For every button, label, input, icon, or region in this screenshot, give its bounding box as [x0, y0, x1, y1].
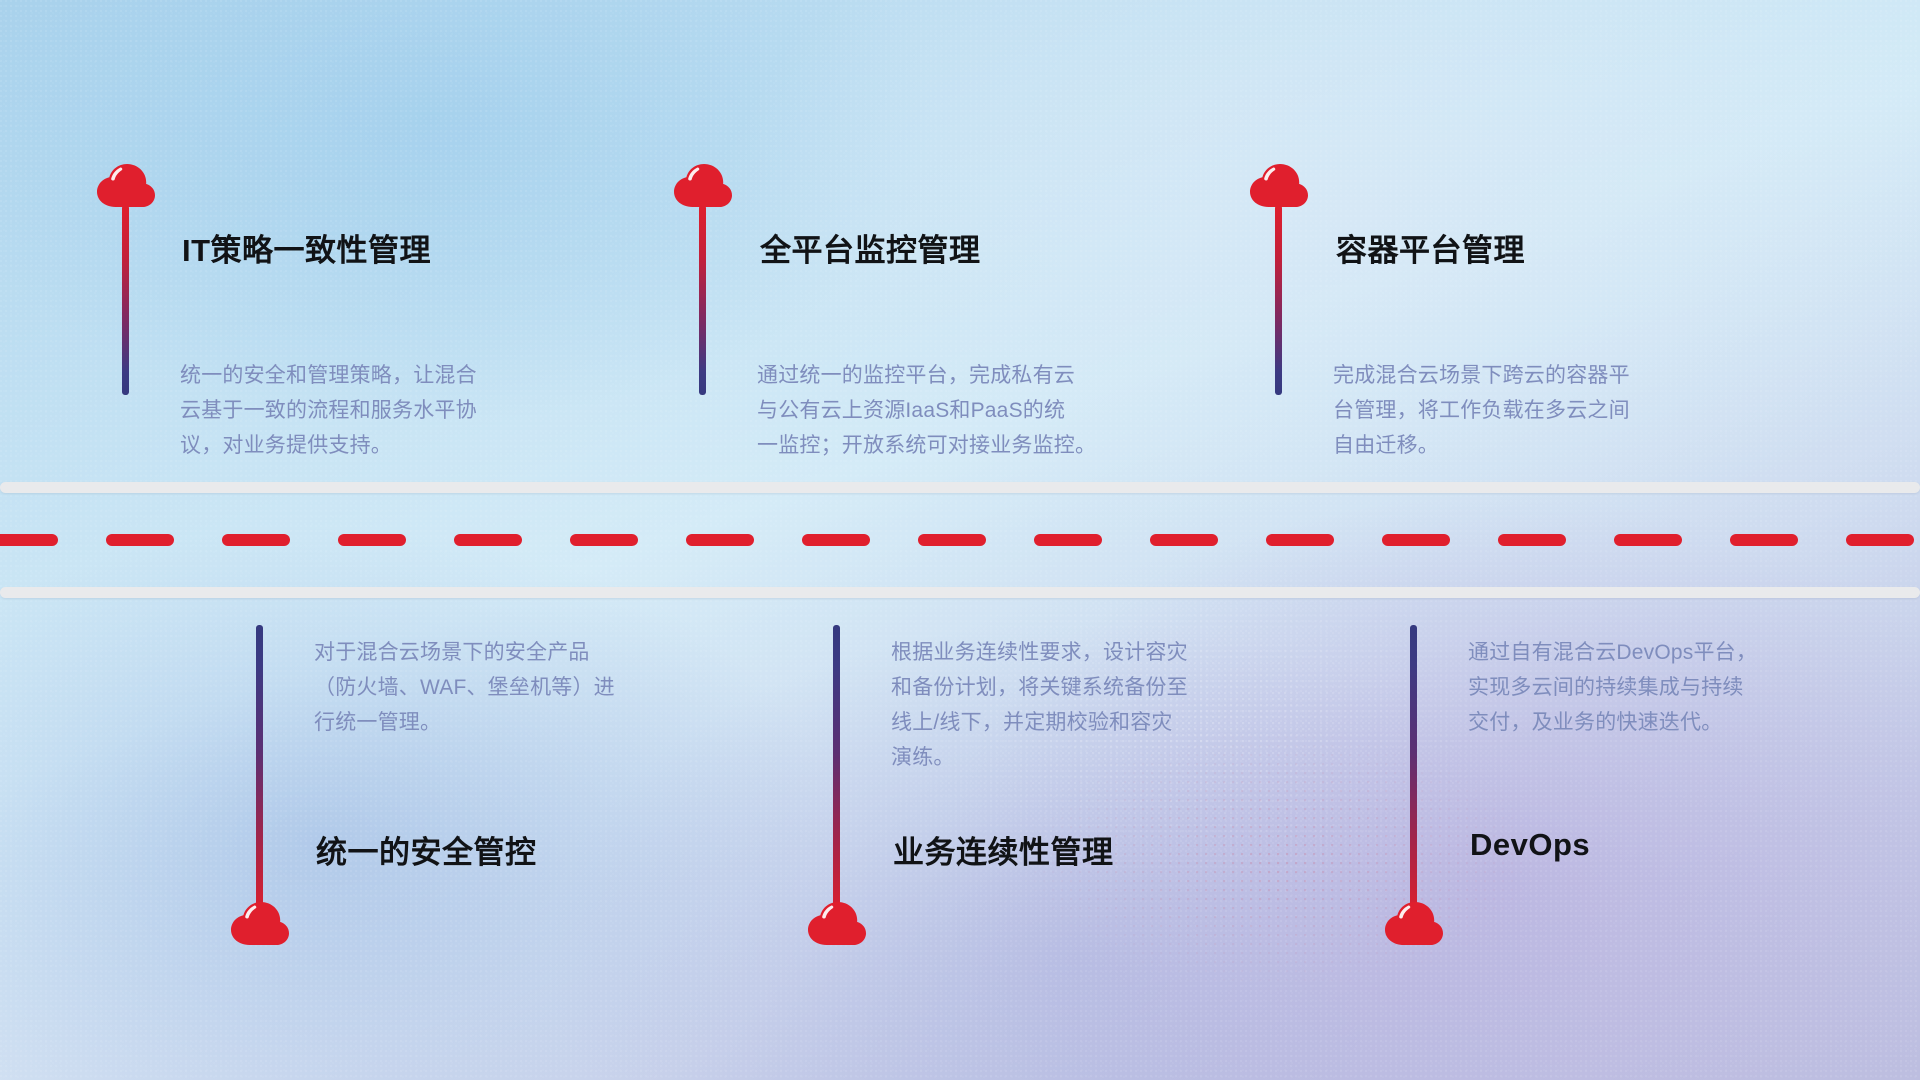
road-dash-segment	[570, 534, 638, 546]
road-dash-segment	[1614, 534, 1682, 546]
road-dash-segment	[1382, 534, 1450, 546]
road-dash-segment	[802, 534, 870, 546]
item-description: 统一的安全和管理策略，让混合 云基于一致的流程和服务水平协 议，对业务提供支持。	[180, 358, 600, 463]
connector-stem	[1410, 625, 1417, 908]
connector-stem	[833, 625, 840, 908]
cloud-icon	[672, 160, 734, 208]
item-description: 通过自有混合云DevOps平台， 实现多云间的持续集成与持续 交付，及业务的快速…	[1468, 635, 1898, 740]
cloud-icon	[1248, 160, 1310, 208]
infographic-canvas: IT策略一致性管理 统一的安全和管理策略，让混合 云基于一致的流程和服务水平协 …	[0, 0, 1920, 1080]
item-title: 业务连续性管理	[893, 827, 1114, 872]
cloud-icon	[806, 898, 868, 946]
road-divider	[0, 482, 1920, 598]
road-dash-segment	[1150, 534, 1218, 546]
road-edge-top	[0, 482, 1920, 493]
connector-stem	[256, 625, 263, 908]
item-title: IT策略一致性管理	[182, 225, 431, 270]
road-dash-segment	[106, 534, 174, 546]
cloud-icon	[95, 160, 157, 208]
item-title: 容器平台管理	[1336, 225, 1525, 270]
road-dash-segment	[1034, 534, 1102, 546]
road-dash-segment	[1730, 534, 1798, 546]
road-edge-bottom	[0, 587, 1920, 598]
road-dash-segment	[1498, 534, 1566, 546]
item-title: DevOps	[1470, 827, 1590, 863]
cloud-icon	[229, 898, 291, 946]
item-title: 统一的安全管控	[316, 827, 537, 872]
road-dash-segment	[1266, 534, 1334, 546]
road-dash-segment	[0, 534, 58, 546]
road-dash-segment	[222, 534, 290, 546]
connector-stem	[1275, 205, 1282, 395]
item-description: 通过统一的监控平台，完成私有云 与公有云上资源IaaS和PaaS的统 一监控；开…	[757, 358, 1187, 463]
road-dash-segment	[686, 534, 754, 546]
item-title: 全平台监控管理	[760, 225, 981, 270]
road-dash-segment	[1846, 534, 1914, 546]
road-center-dashes	[0, 534, 1920, 546]
cloud-icon	[1383, 898, 1445, 946]
road-dash-segment	[454, 534, 522, 546]
item-description: 完成混合云场景下跨云的容器平 台管理，将工作负载在多云之间 自由迁移。	[1333, 358, 1753, 463]
connector-stem	[699, 205, 706, 395]
road-dash-segment	[338, 534, 406, 546]
item-description: 对于混合云场景下的安全产品 （防火墙、WAF、堡垒机等）进 行统一管理。	[314, 635, 734, 740]
connector-stem	[122, 205, 129, 395]
item-description: 根据业务连续性要求，设计容灾 和备份计划，将关键系统备份至 线上/线下，并定期校…	[891, 635, 1321, 775]
road-dash-segment	[918, 534, 986, 546]
